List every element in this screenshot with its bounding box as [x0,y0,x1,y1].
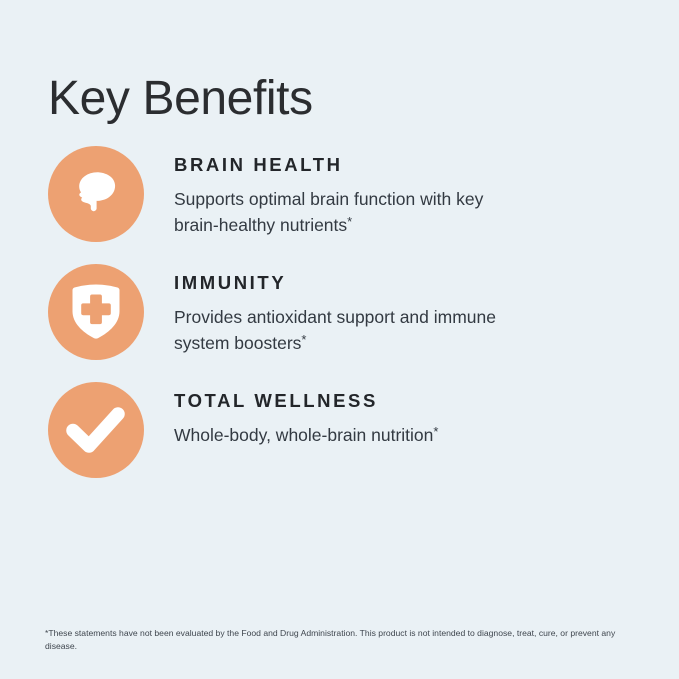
benefits-list: BRAIN HEALTH Supports optimal brain func… [48,146,638,478]
benefit-item-immunity: IMMUNITY Provides antioxidant support an… [48,264,638,360]
benefit-item-total-wellness: TOTAL WELLNESS Whole-body, whole-brain n… [48,382,638,478]
benefit-heading: BRAIN HEALTH [174,156,638,175]
page-title: Key Benefits [48,74,313,124]
footnote-marker: * [433,424,438,439]
benefit-description-text: Provides antioxidant support and immune … [174,307,496,354]
benefit-description-text: Supports optimal brain function with key… [174,189,483,236]
benefit-text-block: TOTAL WELLNESS Whole-body, whole-brain n… [144,382,638,448]
footnote-marker: * [301,332,306,347]
benefit-heading: IMMUNITY [174,274,638,293]
checkmark-icon [64,401,128,459]
benefit-icon-badge [48,146,144,242]
shield-plus-icon [68,282,124,342]
benefit-description: Whole-body, whole-brain nutrition* [174,422,524,449]
footnote-marker: * [347,214,352,229]
benefit-description: Supports optimal brain function with key… [174,186,524,239]
benefit-icon-badge [48,382,144,478]
key-benefits-panel: Key Benefits BRAIN HEALTH Supports optim… [0,0,679,679]
benefit-text-block: IMMUNITY Provides antioxidant support an… [144,264,638,357]
benefit-item-brain-health: BRAIN HEALTH Supports optimal brain func… [48,146,638,242]
benefit-description: Provides antioxidant support and immune … [174,304,524,357]
disclaimer-footnote: *These statements have not been evaluate… [45,627,635,654]
benefit-text-block: BRAIN HEALTH Supports optimal brain func… [144,146,638,239]
brain-icon [65,163,127,225]
benefit-heading: TOTAL WELLNESS [174,392,638,411]
benefit-description-text: Whole-body, whole-brain nutrition [174,425,433,445]
benefit-icon-badge [48,264,144,360]
